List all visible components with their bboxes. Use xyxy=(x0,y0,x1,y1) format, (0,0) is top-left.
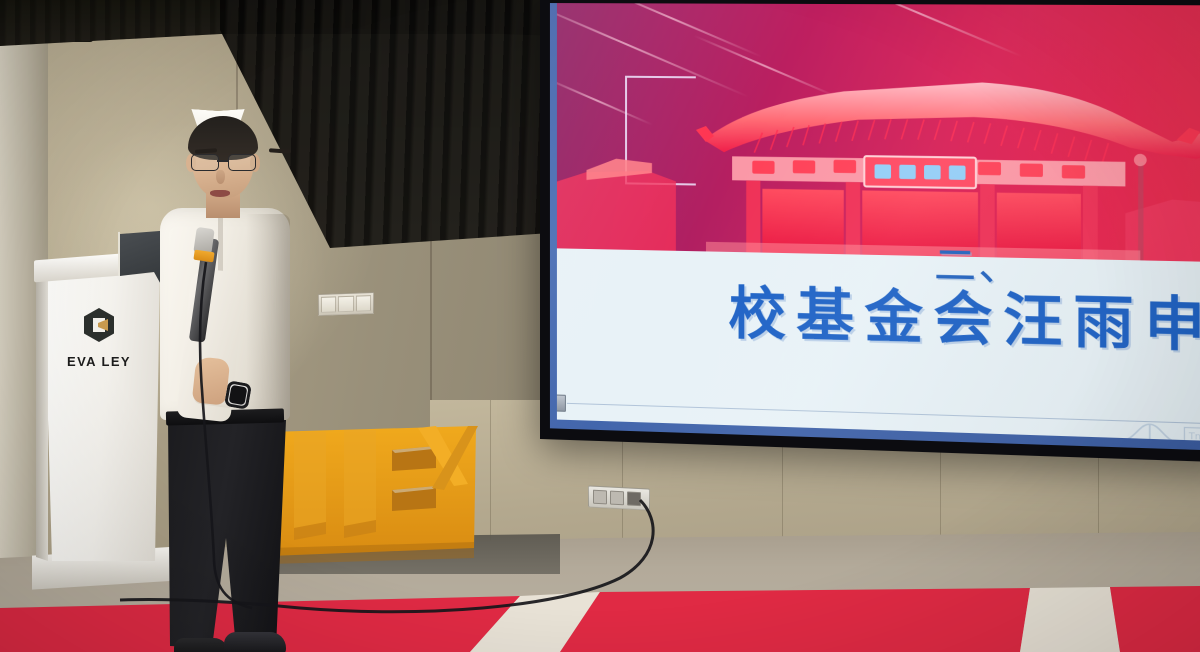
light-switch-panel[interactable] xyxy=(318,292,374,316)
wall-socket-panel[interactable] xyxy=(588,485,650,510)
light-switch[interactable] xyxy=(321,296,336,313)
lectern-brand-text: EVA LEY xyxy=(62,354,136,369)
glasses-icon xyxy=(190,154,256,170)
lectern-edge xyxy=(36,269,48,561)
presenter-mouth xyxy=(210,190,230,197)
presenter-nose xyxy=(216,170,225,184)
svg-text:Tn: Tn xyxy=(1188,432,1200,442)
data-port[interactable] xyxy=(627,491,641,506)
lectern[interactable]: EVA LEY xyxy=(36,255,166,610)
presentation-screen[interactable]: 二、 校基金会汪雨申致辞 Tn xyxy=(540,0,1200,463)
presenter-shoe-left xyxy=(174,638,228,652)
light-switch[interactable] xyxy=(356,295,371,312)
slide-title: 校基金会汪雨申致辞 xyxy=(728,282,1200,359)
slide-text-block: 二、 校基金会汪雨申致辞 xyxy=(557,236,1200,359)
power-socket[interactable] xyxy=(610,491,624,506)
slide-watermark-logo-icon: Tn xyxy=(1117,417,1200,442)
lectern-branding: EVA LEY xyxy=(62,307,136,369)
conference-hall-scene: 二、 校基金会汪雨申致辞 Tn xyxy=(0,0,1200,652)
slide-photo-banner xyxy=(557,3,1200,263)
slide-corner-badge-icon xyxy=(557,394,566,411)
slide: 二、 校基金会汪雨申致辞 Tn xyxy=(550,3,1200,451)
slide-footer-rule xyxy=(567,403,1200,425)
hexagon-logo-icon xyxy=(82,307,116,343)
gate-illustration-icon xyxy=(557,55,1200,263)
light-switch[interactable] xyxy=(338,296,353,313)
presenter-shoe-right xyxy=(224,632,286,652)
smartwatch-icon xyxy=(224,380,252,410)
power-socket[interactable] xyxy=(593,490,607,505)
presenter-shirt-shadow xyxy=(246,214,290,420)
presenter xyxy=(150,110,340,610)
screen-display-area: 二、 校基金会汪雨申致辞 Tn xyxy=(550,3,1200,451)
slide-body: 二、 校基金会汪雨申致辞 Tn xyxy=(557,3,1200,442)
